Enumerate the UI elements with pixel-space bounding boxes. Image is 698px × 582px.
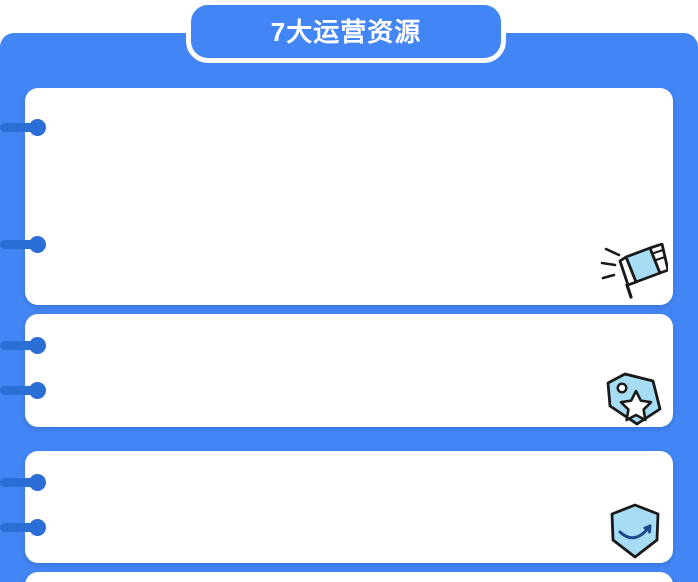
shield-smile-icon	[607, 502, 663, 560]
connector-knob	[29, 474, 46, 491]
page-title: 7大运营资源	[271, 19, 421, 45]
resource-card[interactable]	[25, 572, 673, 582]
resource-card[interactable]	[25, 88, 673, 305]
header-pill: 7大运营资源	[186, 0, 506, 63]
connector-pin	[0, 519, 48, 535]
connector-knob	[29, 337, 46, 354]
connector-pin	[0, 382, 48, 398]
connector-pin	[0, 337, 48, 353]
infographic-stage: 7大运营资源 专属推广位 ·搜索页核心位置、充沛流量 ·亚马逊独家精选、消费信赖…	[0, 0, 698, 582]
connector-pin	[0, 474, 48, 490]
connector-knob	[29, 382, 46, 399]
resource-card[interactable]	[25, 314, 673, 427]
connector-pin	[0, 236, 48, 252]
connector-pin	[0, 119, 48, 135]
connector-knob	[29, 119, 46, 136]
connector-knob	[29, 236, 46, 253]
megaphone-icon	[600, 243, 668, 303]
price-tag-star-icon	[603, 371, 665, 427]
connector-knob	[29, 519, 46, 536]
resource-card[interactable]	[25, 451, 673, 563]
